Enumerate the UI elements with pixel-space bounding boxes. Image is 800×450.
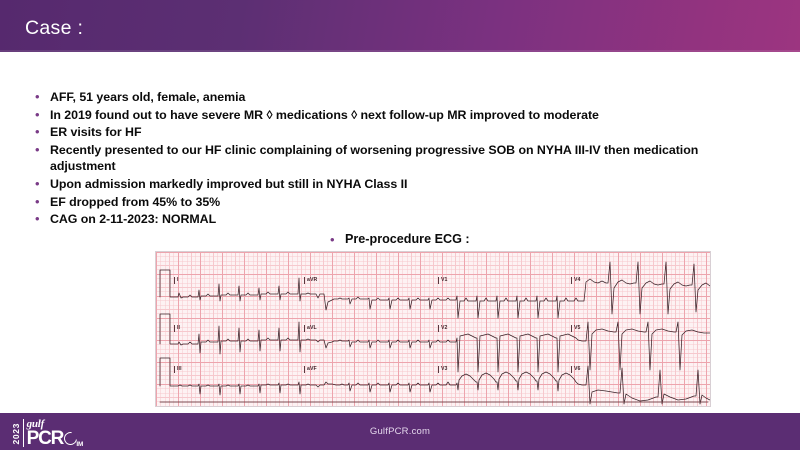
- bullet-marker-icon: •: [33, 211, 50, 228]
- bullet-marker-icon: •: [33, 124, 50, 141]
- page-title: Case :: [25, 17, 83, 40]
- slide-header-bar: Case :: [0, 0, 800, 52]
- list-item: • EF dropped from 45% to 35%: [33, 194, 763, 211]
- bullet-marker-icon: •: [33, 176, 50, 193]
- logo-year-label: 2023: [12, 423, 21, 445]
- slide: Case : • AFF, 51 years old, female, anem…: [0, 0, 800, 450]
- list-item-label: EF dropped from 45% to 35%: [50, 194, 763, 211]
- case-bullet-list: • AFF, 51 years old, female, anemia • In…: [33, 89, 763, 229]
- list-item: • AFF, 51 years old, female, anemia: [33, 89, 763, 106]
- list-item-label: AFF, 51 years old, female, anemia: [50, 89, 763, 106]
- bullet-marker-icon: •: [33, 107, 50, 124]
- ecg-waveform-traces: [156, 252, 711, 407]
- logo-pcr-label: PCR: [27, 430, 64, 448]
- list-item-label: Upon admission markedly improved but sti…: [50, 176, 763, 193]
- bullet-marker-icon: •: [33, 194, 50, 211]
- logo-im-label: IM: [76, 441, 83, 448]
- ecg-image: I aVR V1 V4 II aVL V2 V5 III aVF V3 V6: [155, 251, 711, 407]
- bullet-marker-icon: •: [33, 142, 50, 159]
- slide-footer-bar: GulfPCR.com: [0, 413, 800, 450]
- list-item: • In 2019 found out to have severe MR ◊ …: [33, 107, 763, 124]
- footer-url-label: GulfPCR.com: [0, 426, 800, 437]
- bullet-marker-icon: •: [33, 89, 50, 106]
- logo-lower-row: PCR IM: [27, 430, 82, 448]
- logo-divider: [23, 419, 24, 447]
- ecg-caption: • Pre-procedure ECG :: [328, 231, 470, 248]
- ecg-caption-label: Pre-procedure ECG :: [345, 231, 470, 248]
- list-item-label: ER visits for HF: [50, 124, 763, 141]
- list-item: • CAG on 2-11-2023: NORMAL: [33, 211, 763, 228]
- list-item: • Recently presented to our HF clinic co…: [33, 142, 763, 175]
- list-item-label: Recently presented to our HF clinic comp…: [50, 142, 763, 175]
- list-item: • ER visits for HF: [33, 124, 763, 141]
- gulf-pcr-logo: 2023 gulf PCR IM: [12, 414, 116, 450]
- list-item-label: In 2019 found out to have severe MR ◊ me…: [50, 107, 763, 124]
- bullet-marker-icon: •: [328, 231, 345, 248]
- logo-wordmark: gulf PCR IM: [27, 419, 82, 448]
- logo-circle-icon: IM: [64, 431, 81, 448]
- list-item-label: CAG on 2-11-2023: NORMAL: [50, 211, 763, 228]
- list-item: • Upon admission markedly improved but s…: [33, 176, 763, 193]
